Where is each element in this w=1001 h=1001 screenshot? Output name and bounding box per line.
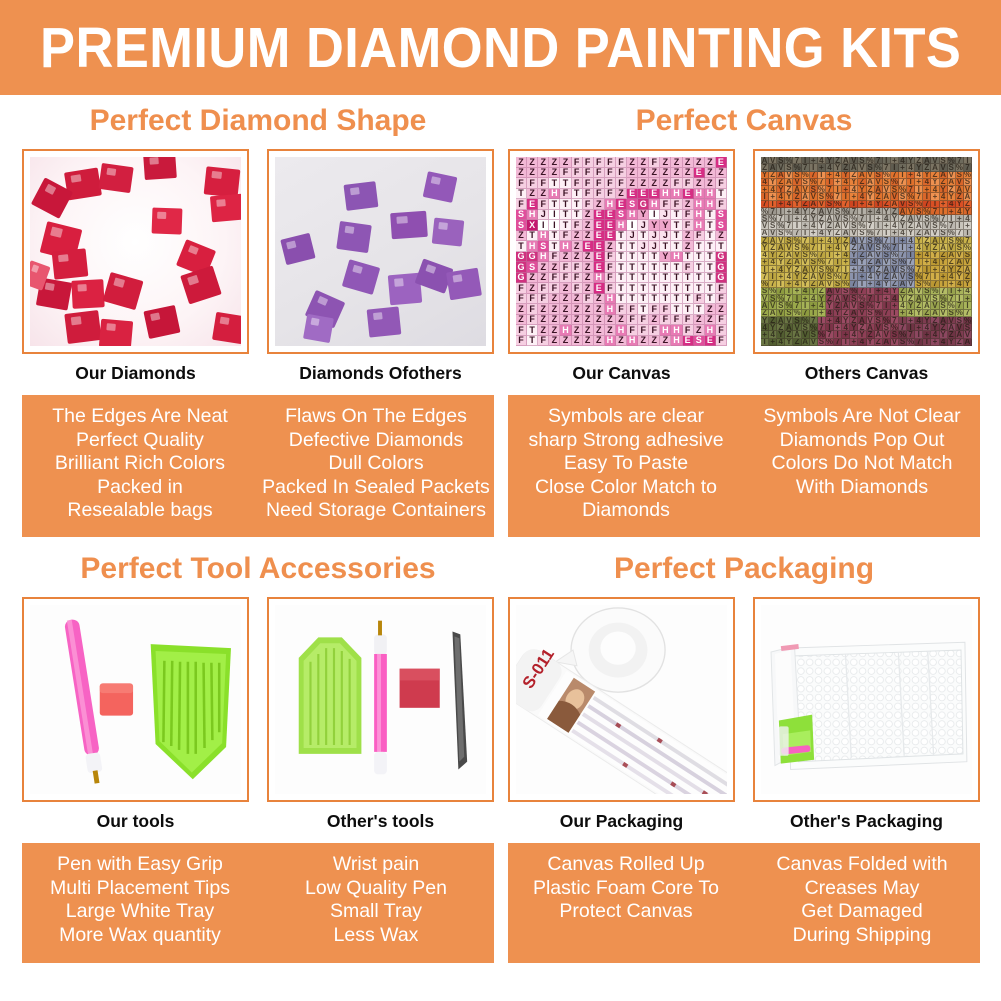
canvas-symbol-cell: Z [705,168,716,179]
canvas-symbol-cell: S [850,295,858,302]
canvas-symbol-cell: E [583,241,594,252]
canvas-symbol-cell: F [583,168,594,179]
canvas-symbol-cell: T [616,262,627,273]
canvas-symbol-cell: + [923,186,931,193]
canvas-symbol-cell: + [802,222,810,229]
canvas-symbol-cell: Z [572,231,583,242]
canvas-symbol-cell: 4 [899,302,907,309]
canvas-symbol-cell: S [769,295,777,302]
canvas-symbol-cell: A [858,172,866,179]
canvas-symbol-cell: Z [875,193,883,200]
canvas-symbol-cell: V [964,331,972,338]
canvas-symbol-cell: E [627,189,638,200]
canvas-symbol-cell: % [810,324,818,331]
canvas-symbol-cell: T [638,283,649,294]
canvas-symbol-cell: % [931,288,939,295]
canvas-symbol-cell: V [948,172,956,179]
canvas-symbol-cell: % [850,288,858,295]
canvas-symbol-cell: E [649,189,660,200]
canvas-symbol-cell: Z [583,325,594,336]
canvas-symbol-cell: Z [660,178,671,189]
canvas-symbol-cell: T [671,273,682,284]
canvas-symbol-cell: Z [583,220,594,231]
canvas-symbol-cell: Z [594,294,605,305]
canvas-symbol-cell: Z [956,339,964,346]
canvas-symbol-cell: 4 [867,201,875,208]
canvas-symbol-cell: % [810,252,818,259]
photo-cell: Our tools [22,597,249,832]
canvas-symbol-cell: 7 [818,179,826,186]
canvas-symbol-cell: T [627,294,638,305]
panel-line: Less Wax [262,924,490,948]
canvas-symbol-cell: I [818,317,826,324]
canvas-symbol-cell: A [834,222,842,229]
canvas-symbol-cell: T [638,273,649,284]
canvas-symbol-cell: Y [923,172,931,179]
canvas-symbol-cell: T [660,262,671,273]
canvas-symbol-cell: % [785,302,793,309]
canvas-symbol-cell: T [549,178,560,189]
canvas-symbol-cell: H [616,220,627,231]
canvas-symbol-cell: F [605,283,616,294]
canvas-symbol-cell: I [818,244,826,251]
canvas-symbol-cell: E [605,220,616,231]
canvas-symbol-cell: A [777,172,785,179]
canvas-symbol-cell: T [694,304,705,315]
canvas-symbol-cell: % [826,266,834,273]
canvas-symbol-cell: + [785,281,793,288]
photo-frame-others-diamonds [267,149,494,354]
canvas-symbol-cell: T [616,252,627,263]
panel-line: Packed In Sealed Packets [262,476,490,500]
pink-symbol-grid-art: ZZZZZFFFFFZZFZZZZZEZZZZFFFFFFZZZZZZEZZFF… [516,157,727,346]
canvas-symbol-cell: Z [616,315,627,326]
canvas-symbol-cell: + [858,273,866,280]
canvas-symbol-cell: Z [802,201,810,208]
canvas-symbol-cell: + [785,208,793,215]
canvas-symbol-cell: Y [875,201,883,208]
canvas-symbol-cell: I [858,208,866,215]
canvas-symbol-cell: Z [923,237,931,244]
canvas-symbol-cell: V [834,288,842,295]
canvas-symbol-cell: I [948,215,956,222]
canvas-symbol-cell: A [802,266,810,273]
canvas-symbol-cell: S [940,302,948,309]
panel-line: The Edges Are Neat [26,405,254,429]
canvas-symbol-cell: V [850,157,858,164]
canvas-symbol-cell: F [560,189,571,200]
canvas-symbol-cell: A [761,157,769,164]
canvas-symbol-cell: I [793,295,801,302]
canvas-symbol-cell: 4 [915,317,923,324]
canvas-symbol-cell: Z [948,259,956,266]
canvas-symbol-cell: S [716,220,727,231]
canvas-symbol-cell: Z [638,336,649,347]
canvas-symbol-cell: F [572,157,583,168]
canvas-symbol-cell: % [891,179,899,186]
canvas-symbol-cell: % [940,222,948,229]
canvas-symbol-cell: I [802,230,810,237]
canvas-symbol-cell: F [560,273,571,284]
canvas-symbol-cell: S [858,157,866,164]
canvas-symbol-cell: % [956,237,964,244]
canvas-symbol-cell: Z [538,304,549,315]
canvas-symbol-cell: Z [683,231,694,242]
canvas-symbol-cell: 7 [956,230,964,237]
canvas-symbol-cell: 4 [802,215,810,222]
canvas-symbol-cell: 4 [956,208,964,215]
canvas-symbol-cell: H [605,336,616,347]
canvas-symbol-cell: T [516,189,527,200]
canvas-symbol-cell: Z [583,273,594,284]
canvas-symbol-cell: Z [516,231,527,242]
canvas-symbol-cell: E [594,220,605,231]
canvas-symbol-cell: Z [793,266,801,273]
canvas-symbol-cell: Z [694,325,705,336]
other-tools-art [275,605,486,794]
canvas-symbol-cell: 4 [883,288,891,295]
canvas-symbol-cell: Z [956,193,964,200]
photo-cell: Our Diamonds [22,149,249,384]
canvas-symbol-cell: + [907,172,915,179]
canvas-symbol-cell: + [931,339,939,346]
canvas-symbol-cell: F [649,325,660,336]
canvas-symbol-cell: % [793,310,801,317]
canvas-symbol-cell: % [923,281,931,288]
canvas-symbol-cell: % [891,324,899,331]
canvas-symbol-cell: % [964,244,972,251]
canvas-symbol-cell: F [516,325,527,336]
canvas-symbol-cell: S [891,186,899,193]
canvas-symbol-cell: H [694,220,705,231]
canvas-symbol-cell: S [899,339,907,346]
panel-column-ours: The Edges Are Neat Perfect Quality Brill… [22,405,258,523]
canvas-symbol-cell: 4 [785,273,793,280]
canvas-symbol-cell: 4 [948,273,956,280]
canvas-symbol-cell: X [527,220,538,231]
canvas-symbol-cell: H [538,231,549,242]
section-packaging: Perfect Packaging [508,548,980,963]
canvas-symbol-cell: T [627,283,638,294]
canvas-symbol-cell: V [931,302,939,309]
canvas-symbol-cell: E [705,336,716,347]
canvas-symbol-cell: F [649,304,660,315]
canvas-symbol-cell: I [850,201,858,208]
canvas-symbol-cell: A [810,273,818,280]
canvas-symbol-cell: Z [716,231,727,242]
canvas-symbol-cell: T [705,220,716,231]
canvas-symbol-cell: Y [834,237,842,244]
canvas-symbol-cell: A [769,237,777,244]
canvas-symbol-cell: F [605,273,616,284]
canvas-symbol-cell: H [605,304,616,315]
canvas-symbol-cell: S [883,179,891,186]
canvas-symbol-cell: % [907,193,915,200]
canvas-symbol-cell: Y [818,295,826,302]
canvas-symbol-cell: Z [538,315,549,326]
canvas-symbol-cell: F [516,178,527,189]
canvas-symbol-cell: H [527,241,538,252]
canvas-symbol-cell: S [834,281,842,288]
canvas-symbol-cell: + [956,215,964,222]
canvas-symbol-cell: T [683,294,694,305]
canvas-symbol-cell: V [761,295,769,302]
canvas-symbol-cell: E [694,168,705,179]
canvas-symbol-cell: S [891,259,899,266]
canvas-symbol-cell: F [516,283,527,294]
canvas-symbol-cell: + [793,215,801,222]
canvas-symbol-cell: S [875,244,883,251]
canvas-symbol-cell: Z [907,295,915,302]
canvas-symbol-cell: Y [850,179,858,186]
canvas-symbol-cell: Z [538,157,549,168]
canvas-symbol-cell: Z [549,304,560,315]
photo-cell: AVS%7I+4YZAVS%7I+4YZAVS%7IZAVS%7I+4YZAVS… [753,149,980,384]
canvas-symbol-cell: + [964,295,972,302]
canvas-symbol-cell: Z [583,315,594,326]
panel-line: Need Storage Containers [262,499,490,523]
canvas-symbol-cell: 7 [867,222,875,229]
canvas-symbol-cell: Z [716,168,727,179]
canvas-symbol-cell: 4 [915,172,923,179]
canvas-symbol-cell: Z [867,259,875,266]
canvas-symbol-cell: 7 [858,288,866,295]
canvas-symbol-cell: V [867,172,875,179]
canvas-symbol-cell: % [785,157,793,164]
canvas-symbol-cell: % [777,222,785,229]
canvas-symbol-cell: Z [705,157,716,168]
canvas-symbol-cell: A [818,208,826,215]
canvas-symbol-cell: Z [761,164,769,171]
canvas-symbol-cell: Z [594,315,605,326]
canvas-symbol-cell: 7 [915,339,923,346]
canvas-symbol-cell: 7 [956,157,964,164]
canvas-symbol-cell: A [867,252,875,259]
canvas-symbol-cell: 7 [875,230,883,237]
canvas-symbol-cell: I [883,302,891,309]
canvas-symbol-cell: Z [516,157,527,168]
canvas-symbol-cell: Y [915,310,923,317]
tube-packaging-svg: S-011 [516,605,727,794]
canvas-symbol-cell: Y [858,331,866,338]
canvas-symbol-cell: T [616,294,627,305]
canvas-symbol-cell: V [769,230,777,237]
canvas-symbol-cell: G [638,199,649,210]
canvas-symbol-cell: A [964,193,972,200]
canvas-symbol-cell: E [594,210,605,221]
panel-line: Protect Canvas [512,900,740,924]
canvas-symbol-cell: T [527,325,538,336]
canvas-symbol-cell: 4 [769,186,777,193]
canvas-symbol-cell: F [716,283,727,294]
canvas-symbol-cell: 7 [850,281,858,288]
canvas-symbol-cell: 7 [907,186,915,193]
canvas-symbol-cell: + [964,222,972,229]
canvas-symbol-cell: Z [850,317,858,324]
canvas-symbol-cell: Z [538,273,549,284]
canvas-symbol-cell: A [761,230,769,237]
canvas-symbol-cell: I [549,210,560,221]
photo-cell: S-011 Our Packaging [508,597,735,832]
canvas-symbol-cell: 4 [923,324,931,331]
canvas-symbol-cell: Y [956,201,964,208]
canvas-symbol-cell: I [923,193,931,200]
canvas-symbol-cell: 7 [793,157,801,164]
canvas-symbol-cell: + [842,259,850,266]
panel-line: Resealable bags [26,499,254,523]
canvas-symbol-cell: + [923,259,931,266]
canvas-symbol-cell: Z [777,252,785,259]
canvas-symbol-cell: Z [627,178,638,189]
canvas-symbol-cell: 4 [899,157,907,164]
photo-caption: Other's Packaging [753,811,980,832]
canvas-symbol-cell: F [527,294,538,305]
canvas-symbol-cell: Z [940,252,948,259]
canvas-symbol-cell: F [572,220,583,231]
canvas-symbol-cell: A [834,295,842,302]
canvas-symbol-cell: F [594,189,605,200]
canvas-symbol-cell: % [964,172,972,179]
canvas-symbol-cell: + [826,317,834,324]
canvas-symbol-cell: Y [964,208,972,215]
canvas-symbol-cell: % [842,281,850,288]
canvas-symbol-cell: % [802,244,810,251]
canvas-symbol-cell: F [683,315,694,326]
canvas-symbol-cell: 4 [769,259,777,266]
canvas-symbol-cell: V [931,230,939,237]
canvas-symbol-cell: A [850,310,858,317]
canvas-symbol-cell: + [810,230,818,237]
canvas-symbol-cell: 4 [940,266,948,273]
canvas-symbol-cell: F [549,283,560,294]
panel-line: Creases May [748,877,976,901]
canvas-symbol-cell: Z [923,310,931,317]
our-tools-svg [30,605,241,794]
canvas-symbol-cell: S [899,193,907,200]
canvas-symbol-cell: J [660,210,671,221]
canvas-symbol-cell: G [716,252,727,263]
canvas-symbol-cell: Y [842,317,850,324]
canvas-symbol-cell: F [516,294,527,305]
canvas-symbol-cell: A [802,339,810,346]
canvas-symbol-cell: Z [793,193,801,200]
photo-frame-other-packaging [753,597,980,802]
canvas-symbol-cell: F [516,336,527,347]
canvas-symbol-cell: Z [793,339,801,346]
canvas-symbol-cell: Z [649,315,660,326]
canvas-symbol-cell: T [572,199,583,210]
canvas-symbol-cell: T [616,283,627,294]
canvas-symbol-cell: V [883,186,891,193]
canvas-symbol-cell: Z [549,157,560,168]
canvas-symbol-cell: T [549,199,560,210]
canvas-symbol-cell: I [891,164,899,171]
canvas-symbol-cell: S [810,186,818,193]
canvas-symbol-cell: T [671,294,682,305]
canvas-symbol-cell: A [940,317,948,324]
section-title: Perfect Tool Accessories [22,548,494,590]
photo-caption: Other's tools [267,811,494,832]
canvas-symbol-cell: F [694,294,705,305]
canvas-symbol-cell: T [660,283,671,294]
other-tools-svg [275,605,486,794]
canvas-symbol-cell: Z [538,325,549,336]
canvas-symbol-cell: F [694,231,705,242]
canvas-symbol-cell: S [867,310,875,317]
canvas-symbol-cell: 7 [858,215,866,222]
canvas-symbol-cell: 7 [964,310,972,317]
canvas-symbol-cell: T [560,199,571,210]
canvas-symbol-cell: 7 [915,193,923,200]
canvas-symbol-cell: + [883,222,891,229]
canvas-symbol-cell: J [649,231,660,242]
canvas-symbol-cell: Z [899,215,907,222]
canvas-symbol-cell: E [683,189,694,200]
canvas-symbol-cell: S [761,215,769,222]
canvas-symbol-cell: % [793,237,801,244]
section-title: Perfect Diamond Shape [22,100,494,142]
canvas-symbol-cell: F [683,262,694,273]
canvas-symbol-cell: A [802,193,810,200]
canvas-symbol-cell: Z [527,168,538,179]
canvas-symbol-cell: Z [583,252,594,263]
canvas-symbol-cell: G [516,252,527,263]
canvas-symbol-cell: S [931,295,939,302]
canvas-symbol-cell: Z [660,168,671,179]
canvas-symbol-cell: Z [560,315,571,326]
canvas-symbol-cell: S [907,273,915,280]
canvas-symbol-cell: V [785,244,793,251]
canvas-symbol-cell: A [964,266,972,273]
canvas-symbol-cell: I [931,201,939,208]
canvas-symbol-cell: S [627,199,638,210]
canvas-symbol-cell: F [616,178,627,189]
canvas-symbol-cell: % [858,222,866,229]
canvas-symbol-cell: Z [964,273,972,280]
canvas-symbol-cell: 4 [834,244,842,251]
canvas-symbol-cell: F [560,168,571,179]
section-canvas: Perfect Canvas ZZZZZFFFFFZZFZZZZZEZZZZFF… [508,100,980,537]
canvas-symbol-cell: Z [810,208,818,215]
canvas-symbol-cell: F [560,262,571,273]
panel-line: Multi Placement Tips [26,877,254,901]
canvas-symbol-cell: I [915,331,923,338]
canvas-symbol-cell: F [583,178,594,189]
canvas-symbol-cell: Y [802,208,810,215]
canvas-symbol-cell: A [810,201,818,208]
canvas-symbol-cell: F [616,157,627,168]
canvas-symbol-cell: Y [850,324,858,331]
canvas-symbol-cell: % [769,288,777,295]
canvas-symbol-cell: T [549,231,560,242]
canvas-symbol-cell: % [915,201,923,208]
photo-caption: Diamonds Ofothers [267,363,494,384]
canvas-symbol-cell: I [785,288,793,295]
canvas-symbol-cell: F [594,168,605,179]
canvas-symbol-cell: S [931,222,939,229]
comparison-panel: Canvas Rolled Up Plastic Foam Core To Pr… [508,843,980,963]
canvas-symbol-cell: + [834,179,842,186]
canvas-symbol-cell: Z [560,157,571,168]
canvas-symbol-cell: + [818,310,826,317]
canvas-symbol-cell: + [907,317,915,324]
canvas-symbol-cell: Z [549,294,560,305]
canvas-symbol-cell: % [802,317,810,324]
canvas-symbol-cell: F [616,168,627,179]
canvas-symbol-cell: H [605,199,616,210]
panel-column-others: Canvas Folded with Creases May Get Damag… [744,853,980,949]
canvas-symbol-cell: I [891,237,899,244]
